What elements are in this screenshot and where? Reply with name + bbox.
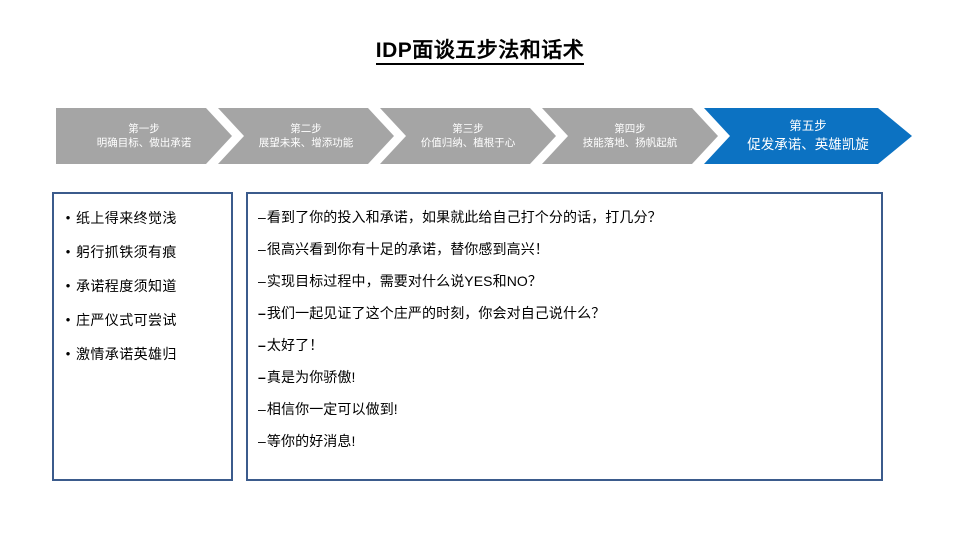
list-item: • 承诺程度须知道 [60,276,225,296]
list-item-label: 等你的好消息! [267,433,356,449]
list-item: –相信你一定可以做到! [258,399,871,419]
list-item: –真是为你骄傲! [258,367,871,387]
dash-icon: – [258,433,266,449]
process-step-1-label: 第一步 [128,122,160,136]
list-item: • 躬行抓铁须有痕 [60,242,225,262]
process-step-3-sublabel: 价值归纳、植根于心 [421,136,516,151]
script-panel: –看到了你的投入和承诺，如果就此给自己打个分的话，打几分？ –很高兴看到你有十足… [246,192,883,481]
list-item-label: 很高兴看到你有十足的承诺，替你感到高兴！ [267,241,549,257]
list-item-label: 躬行抓铁须有痕 [76,242,225,262]
list-item-label: 激情承诺英雄归 [76,344,225,364]
process-step-4[interactable]: 第四步 技能落地、扬帆起航 [542,108,718,164]
list-item-label: 庄严仪式可尝试 [76,310,225,330]
list-item: –太好了！ [258,335,871,355]
dash-icon: – [258,209,266,225]
dash-icon: – [258,369,266,385]
page-title: IDP面谈五步法和话术 [0,38,960,64]
dash-icon: – [258,305,266,321]
process-step-2-sublabel: 展望未来、增添功能 [259,136,354,151]
process-step-4-sublabel: 技能落地、扬帆起航 [583,136,678,151]
list-item-label: 真是为你骄傲! [267,369,356,385]
dash-icon: – [258,401,266,417]
list-item-label: 承诺程度须知道 [76,276,225,296]
bullet-icon: • [60,208,76,228]
list-item-label: 看到了你的投入和承诺，如果就此给自己打个分的话，打几分？ [267,209,662,225]
process-step-3-label: 第三步 [452,122,484,136]
list-item: –很高兴看到你有十足的承诺，替你感到高兴！ [258,239,871,259]
list-item-label: 我们一起见证了这个庄严的时刻，你会对自己说什么？ [267,305,605,321]
list-item: –实现目标过程中，需要对什么说YES和NO？ [258,271,871,291]
list-item: –等你的好消息! [258,431,871,451]
dash-icon: – [258,273,266,289]
process-step-5-label: 第五步 [789,118,827,135]
dash-icon: – [258,241,266,257]
list-item-label: 相信你一定可以做到! [267,401,398,417]
process-step-5[interactable]: 第五步 促发承诺、英雄凯旋 [704,108,912,164]
list-item: –看到了你的投入和承诺，如果就此给自己打个分的话，打几分？ [258,207,871,227]
process-step-5-sublabel: 促发承诺、英雄凯旋 [747,135,869,154]
list-item-label: 实现目标过程中，需要对什么说YES和NO？ [267,273,542,289]
process-step-1-sublabel: 明确目标、做出承诺 [97,136,192,151]
bullet-icon: • [60,276,76,296]
key-phrases-list: • 纸上得来终觉浅 • 躬行抓铁须有痕 • 承诺程度须知道 • 庄严仪式可尝试 … [60,208,225,364]
process-step-3[interactable]: 第三步 价值归纳、植根于心 [380,108,556,164]
key-phrases-panel: • 纸上得来终觉浅 • 躬行抓铁须有痕 • 承诺程度须知道 • 庄严仪式可尝试 … [52,192,233,481]
list-item: • 庄严仪式可尝试 [60,310,225,330]
page-title-text: IDP面谈五步法和话术 [376,39,585,65]
list-item: • 纸上得来终觉浅 [60,208,225,228]
list-item-label: 纸上得来终觉浅 [76,208,225,228]
process-step-1[interactable]: 第一步 明确目标、做出承诺 [56,108,232,164]
process-step-bar: 第一步 明确目标、做出承诺 第二步 展望未来、增添功能 第三步 价值归纳、植根于… [56,108,912,166]
process-step-2[interactable]: 第二步 展望未来、增添功能 [218,108,394,164]
list-item: • 激情承诺英雄归 [60,344,225,364]
bullet-icon: • [60,344,76,364]
slide-canvas: IDP面谈五步法和话术 第一步 明确目标、做出承诺 第二步 展望未来、增添功能 … [0,0,960,540]
list-item: –我们一起见证了这个庄严的时刻，你会对自己说什么？ [258,303,871,323]
bullet-icon: • [60,242,76,262]
bullet-icon: • [60,310,76,330]
dash-icon: – [258,337,266,353]
script-list: –看到了你的投入和承诺，如果就此给自己打个分的话，打几分？ –很高兴看到你有十足… [258,207,871,451]
process-step-2-label: 第二步 [290,122,322,136]
process-step-4-label: 第四步 [614,122,646,136]
list-item-label: 太好了！ [267,337,323,353]
